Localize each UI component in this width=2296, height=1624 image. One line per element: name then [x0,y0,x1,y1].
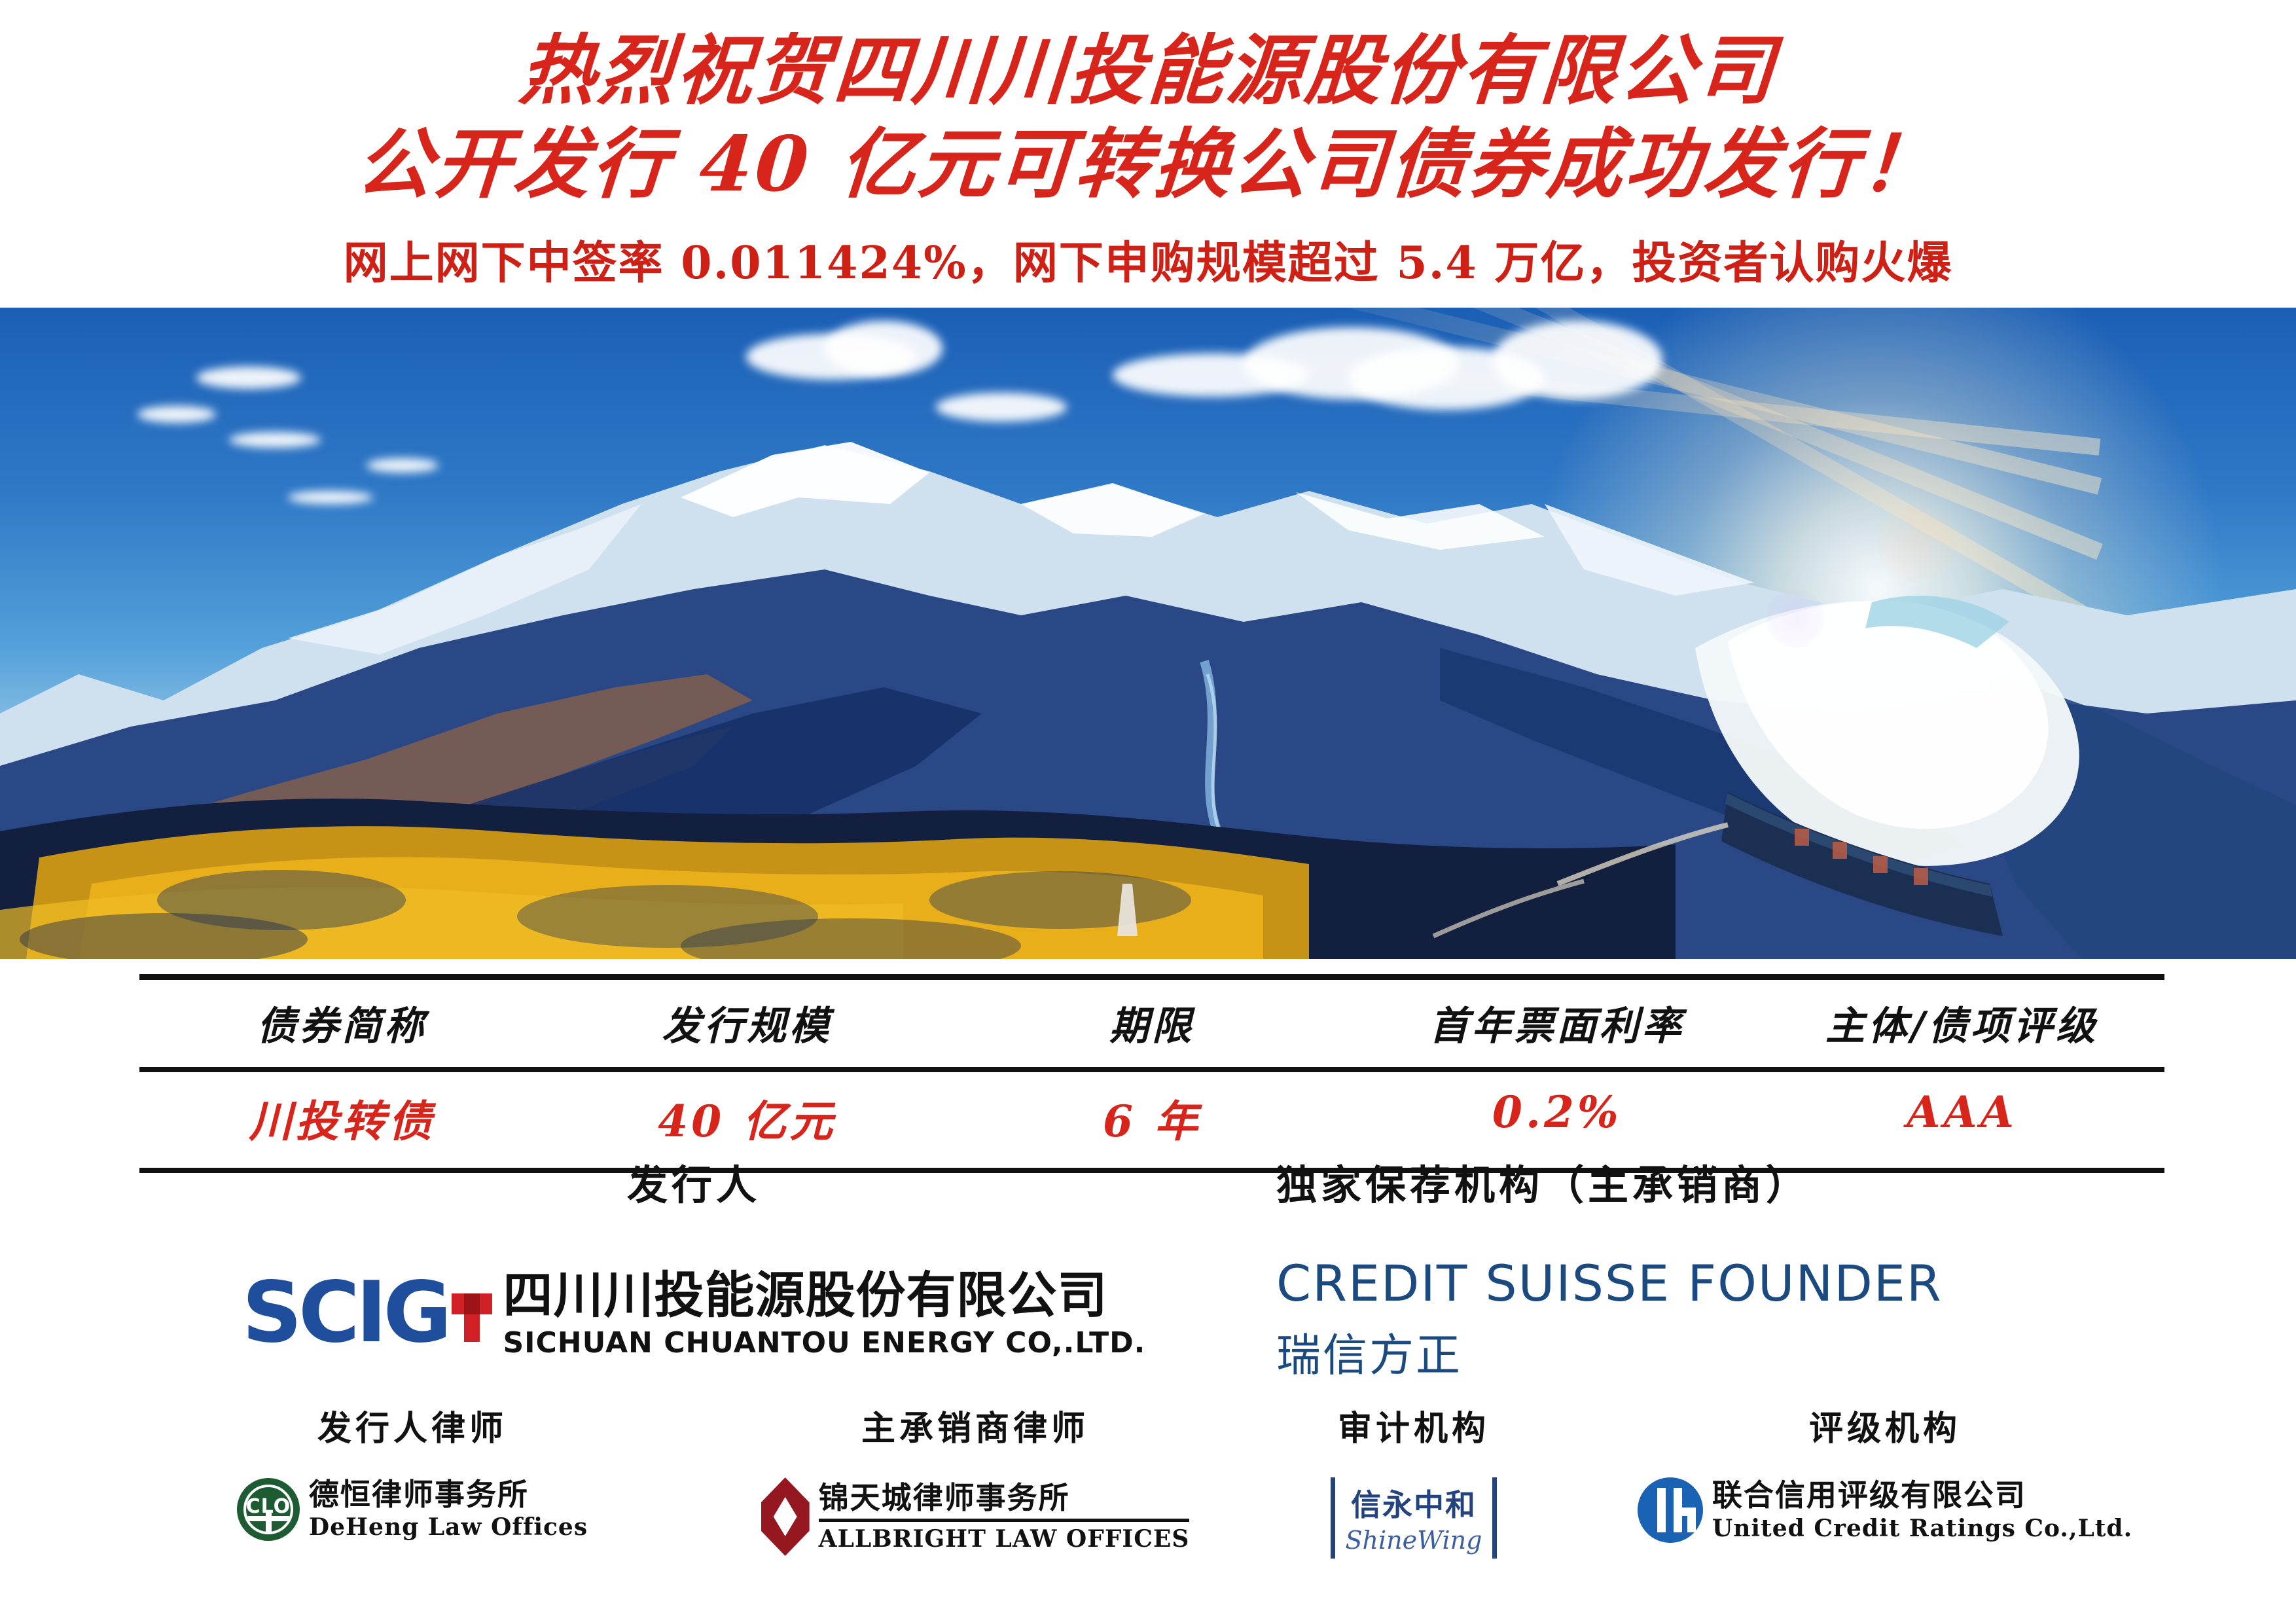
advisor-label: 审计机构 [1244,1401,1584,1450]
table-header-cell: 期限 [950,980,1355,1067]
advisor-rating-agency: 评级机构 联合信用评级有限公司 United Credit Ratings Co… [1590,1401,2179,1543]
lens-flare-icon [1877,504,1956,583]
advisor-name-en: ALLBRIGHT LAW OFFICES [819,1526,1190,1553]
issuer-label: 发行人 [170,1152,1217,1211]
headline-line-2: 公开发行 40 亿元可转换公司债券成功发行！ [0,120,2296,209]
shinewing-bracket-icon: 信永中和 ShineWing [1331,1477,1498,1559]
scig-red-mark-icon [452,1282,492,1344]
issuer-name-group: 四川川投能源股份有限公司 SICHUAN CHUANTOU ENERGY CO,… [503,1267,1145,1359]
table-header-cell: 发行规模 [545,980,950,1067]
table-rule-top [139,974,2164,980]
hero-photo [0,308,2296,959]
advisor-label: 评级机构 [1590,1401,2179,1450]
bond-summary-table: 债券简称 发行规模 期限 首年票面利率 主体/债项评级 川投转债 40 亿元 6… [139,974,2164,1173]
lens-flare-icon [1766,589,1825,648]
advisor-name-en: ShineWing [1346,1526,1482,1555]
issuer-block: 发行人 SCIG 四川川投能源股份有限公司 SICHUAN CHUANTOU E… [170,1152,1217,1359]
advisor-name-cn: 联合信用评级有限公司 [1712,1478,2132,1512]
table-rule-middle [139,1067,2164,1072]
parties-row: 发行人 SCIG 四川川投能源股份有限公司 SICHUAN CHUANTOU E… [0,1152,2296,1407]
shinewing-logo: 信永中和 ShineWing [1244,1477,1584,1559]
advisor-name-group: 联合信用评级有限公司 United Credit Ratings Co.,Ltd… [1712,1478,2132,1542]
table-header-row: 债券简称 发行规模 期限 首年票面利率 主体/债项评级 [139,980,2164,1067]
deheng-logo: CLO 德恒律师事务所 DeHeng Law Offices [170,1477,655,1541]
announcement-poster: 热烈祝贺四川川投能源股份有限公司 公开发行 40 亿元可转换公司债券成功发行！ … [0,0,2296,1624]
issuer-name-cn: 四川川投能源股份有限公司 [503,1267,1145,1323]
advisor-name-cn: 德恒律师事务所 [309,1477,588,1511]
sponsor-name-en: CREDIT SUISSE FOUNDER [1276,1254,2193,1312]
scig-wordmark: SCIG [242,1271,448,1355]
sponsor-name-cn: 瑞信方正 [1276,1319,2193,1384]
deheng-seal-icon: CLO [237,1478,300,1541]
issuer-logo: SCIG 四川川投能源股份有限公司 SICHUAN CHUANTOU ENERG… [170,1267,1217,1359]
united-credit-circle-icon [1638,1477,1703,1543]
table-header-cell: 债券简称 [139,980,545,1067]
advisor-name-group: 锦天城律师事务所 ALLBRIGHT LAW OFFICES [819,1481,1190,1553]
allbright-logo: 锦天城律师事务所 ALLBRIGHT LAW OFFICES [707,1477,1244,1556]
advisor-label: 发行人律师 [170,1401,655,1450]
allbright-divider [819,1519,1190,1522]
advisor-name-cn: 信永中和 [1346,1481,1482,1525]
headline-block: 热烈祝贺四川川投能源股份有限公司 公开发行 40 亿元可转换公司债券成功发行！ … [0,26,2296,291]
advisor-underwriter-counsel: 主承销商律师 锦天城律师事务所 ALLBRIGHT LAW OFFICES [707,1401,1244,1556]
issuer-name-en: SICHUAN CHUANTOU ENERGY CO,.LTD. [503,1327,1145,1359]
advisor-name-cn: 锦天城律师事务所 [819,1481,1190,1515]
table-header-cell: 主体/债项评级 [1759,980,2164,1067]
mountain-range [0,308,2296,959]
advisor-issuer-counsel: 发行人律师 CLO 德恒律师事务所 DeHeng Law Offices [170,1401,655,1541]
advisor-name-group: 德恒律师事务所 DeHeng Law Offices [309,1477,588,1541]
sponsor-label: 独家保荐机构（主承销商） [1276,1152,2193,1211]
deheng-seal-text: CLO [237,1495,300,1518]
advisor-name-en: United Credit Ratings Co.,Ltd. [1712,1515,2132,1542]
headline-subline: 网上网下中签率 0.011424%，网下申购规模超过 5.4 万亿，投资者认购火… [0,226,2296,291]
allbright-diamond-icon [761,1477,810,1556]
table-header-cell: 首年票面利率 [1354,980,1759,1067]
sponsor-block: 独家保荐机构（主承销商） CREDIT SUISSE FOUNDER 瑞信方正 [1276,1152,2193,1384]
advisor-name-en: DeHeng Law Offices [309,1514,588,1541]
advisors-row: 发行人律师 CLO 德恒律师事务所 DeHeng Law Offices 主承销… [0,1401,2296,1571]
united-credit-logo: 联合信用评级有限公司 United Credit Ratings Co.,Ltd… [1590,1477,2179,1543]
headline-line-1: 热烈祝贺四川川投能源股份有限公司 [0,26,2296,116]
advisor-label: 主承销商律师 [707,1401,1244,1450]
advisor-auditor: 审计机构 信永中和 ShineWing [1244,1401,1584,1559]
